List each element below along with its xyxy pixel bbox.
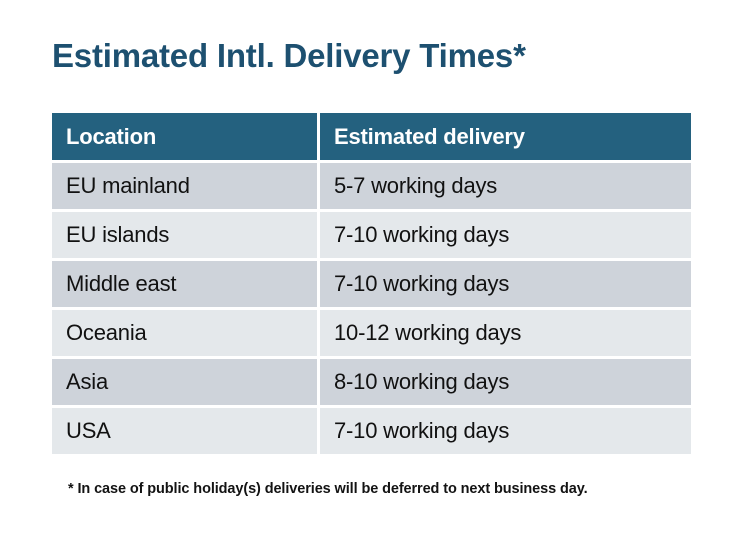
table-row: Middle east 7-10 working days bbox=[52, 261, 691, 307]
table-row: EU islands 7-10 working days bbox=[52, 212, 691, 258]
cell-estimated-delivery: 7-10 working days bbox=[320, 261, 691, 307]
table-row: EU mainland 5-7 working days bbox=[52, 163, 691, 209]
column-header-estimated-delivery: Estimated delivery bbox=[320, 113, 691, 160]
cell-estimated-delivery: 8-10 working days bbox=[320, 359, 691, 405]
cell-location: Middle east bbox=[52, 261, 317, 307]
delivery-times-page: Estimated Intl. Delivery Times* Location… bbox=[0, 0, 745, 536]
cell-estimated-delivery: 10-12 working days bbox=[320, 310, 691, 356]
table-row: Asia 8-10 working days bbox=[52, 359, 691, 405]
footnote-text: * In case of public holiday(s) deliverie… bbox=[68, 479, 588, 499]
cell-estimated-delivery: 5-7 working days bbox=[320, 163, 691, 209]
table-header-row: Location Estimated delivery bbox=[52, 113, 691, 160]
estimated-delivery-table: Location Estimated delivery EU mainland … bbox=[52, 113, 691, 454]
cell-location: EU islands bbox=[52, 212, 317, 258]
table-row: USA 7-10 working days bbox=[52, 408, 691, 454]
page-title: Estimated Intl. Delivery Times* bbox=[52, 36, 526, 76]
cell-estimated-delivery: 7-10 working days bbox=[320, 212, 691, 258]
cell-estimated-delivery: 7-10 working days bbox=[320, 408, 691, 454]
cell-location: Asia bbox=[52, 359, 317, 405]
cell-location: USA bbox=[52, 408, 317, 454]
cell-location: Oceania bbox=[52, 310, 317, 356]
column-header-location: Location bbox=[52, 113, 317, 160]
cell-location: EU mainland bbox=[52, 163, 317, 209]
table-row: Oceania 10-12 working days bbox=[52, 310, 691, 356]
